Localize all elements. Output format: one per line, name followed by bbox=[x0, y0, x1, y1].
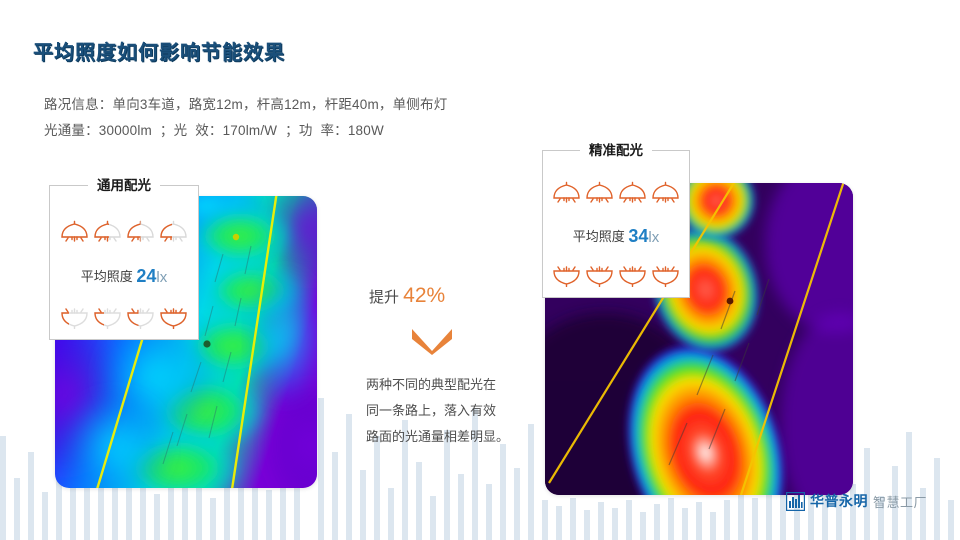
precise-distribution-title: 精准配光 bbox=[580, 139, 652, 159]
lamp-icon bbox=[59, 303, 90, 334]
description-line-3: 路面的光通量相差明显。 bbox=[366, 424, 546, 450]
lamp-icon bbox=[92, 303, 123, 334]
lamp-row-top-right bbox=[543, 181, 689, 214]
description-text: 两种不同的典型配光在 同一条路上，落入有效 路面的光通量相差明显。 bbox=[366, 372, 546, 450]
lamp-icon bbox=[551, 261, 582, 292]
description-line-1: 两种不同的典型配光在 bbox=[366, 372, 546, 398]
precise-distribution-card: 精准配光 平均照度 34lx bbox=[542, 150, 690, 298]
lamp-icon bbox=[92, 220, 123, 253]
lamp-icon bbox=[617, 181, 648, 214]
lamp-icon bbox=[59, 220, 90, 253]
lamp-row-top-left bbox=[50, 220, 198, 253]
lamp-row-bottom-left bbox=[50, 303, 198, 334]
average-illuminance-right: 平均照度 34lx bbox=[543, 226, 689, 247]
road-info-block: 路况信息：单向3车道，路宽12m，杆高12m，杆距40m，单侧布灯 光通量：30… bbox=[44, 92, 447, 144]
lamp-icon bbox=[584, 261, 615, 292]
lamp-row-bottom-right bbox=[543, 261, 689, 292]
lux-label: 平均照度 bbox=[573, 229, 625, 244]
lamp-icon bbox=[617, 261, 648, 292]
lamp-icon bbox=[650, 181, 681, 214]
lamp-icon bbox=[551, 181, 582, 214]
huapu-logo-icon bbox=[786, 492, 805, 511]
lamp-icon bbox=[125, 303, 156, 334]
road-info-line-2: 光通量：30000lm ；光 效：170lm/W ；功 率：180W bbox=[44, 118, 447, 144]
lamp-icon bbox=[650, 261, 681, 292]
brand-logo: 华普永明 智慧工厂 bbox=[786, 491, 927, 511]
lux-unit: lx bbox=[156, 269, 167, 286]
lux-value: 24 bbox=[136, 266, 156, 286]
lamp-icon bbox=[158, 303, 189, 334]
average-illuminance-left: 平均照度 24lx bbox=[50, 266, 198, 287]
general-distribution-card: 通用配光 bbox=[49, 185, 199, 340]
brand-name: 华普永明 bbox=[810, 491, 868, 511]
brand-suffix: 智慧工厂 bbox=[873, 492, 927, 511]
uplift-text: 提升 42% bbox=[369, 284, 445, 308]
uplift-value: 42% bbox=[403, 284, 445, 307]
lamp-icon bbox=[158, 220, 189, 253]
uplift-label: 提升 bbox=[369, 289, 403, 306]
chevron-down-icon bbox=[409, 325, 455, 355]
general-distribution-title: 通用配光 bbox=[88, 174, 160, 194]
lamp-icon bbox=[125, 220, 156, 253]
lux-value: 34 bbox=[628, 226, 648, 246]
lamp-icon bbox=[584, 181, 615, 214]
lux-label: 平均照度 bbox=[81, 269, 133, 284]
page-title: 平均照度如何影响节能效果 bbox=[33, 36, 285, 65]
road-info-line-1: 路况信息：单向3车道，路宽12m，杆高12m，杆距40m，单侧布灯 bbox=[44, 92, 447, 118]
description-line-2: 同一条路上，落入有效 bbox=[366, 398, 546, 424]
lux-unit: lx bbox=[648, 229, 659, 246]
